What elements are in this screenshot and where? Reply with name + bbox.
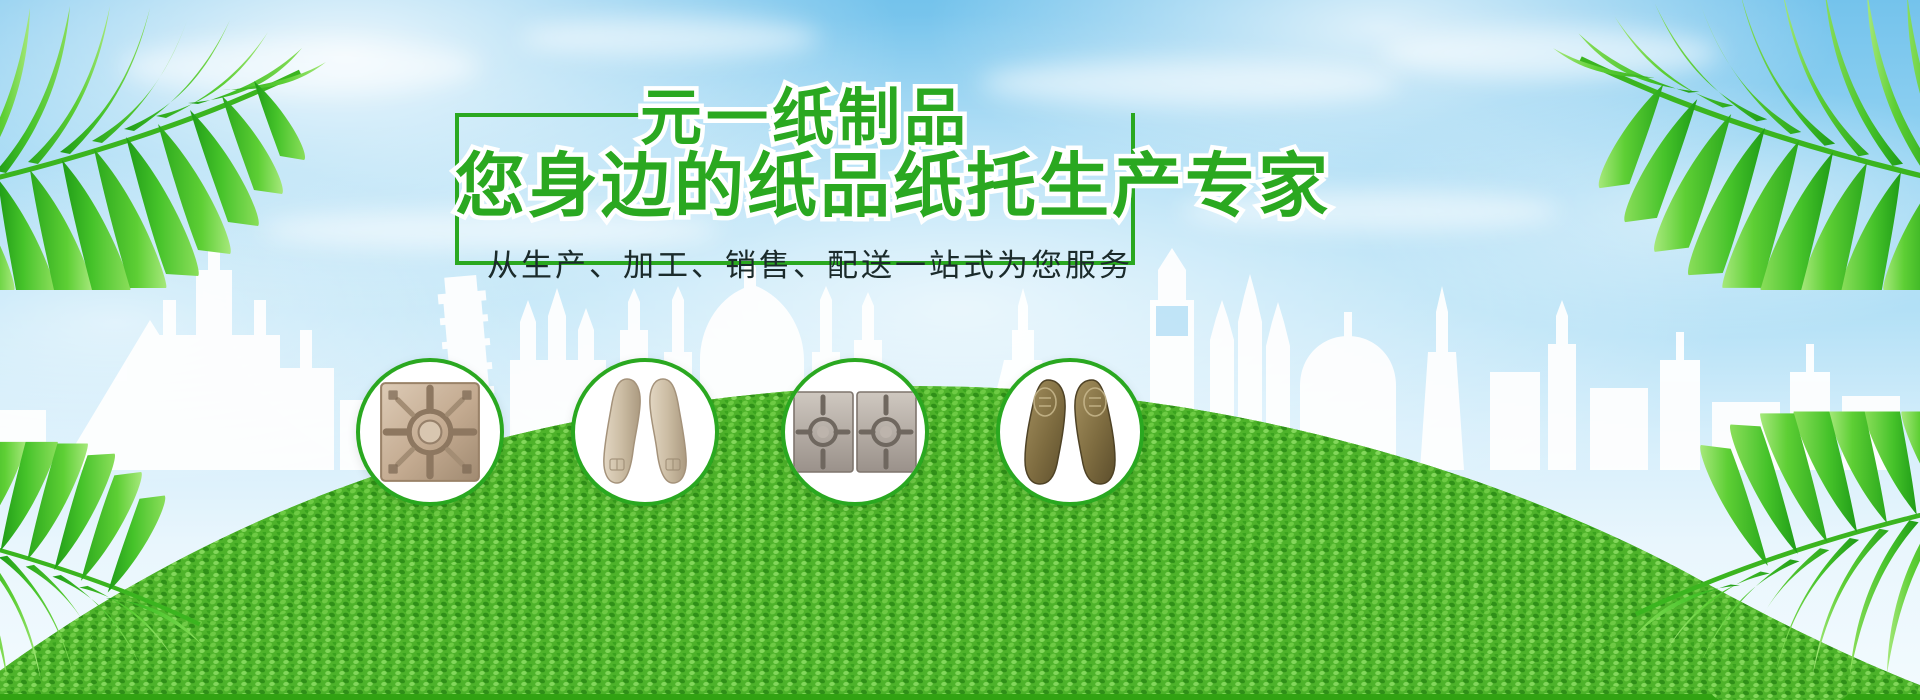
paper-pulp-shoe-form-pair-icon [1020, 376, 1120, 488]
brand-headline: 元一纸制品 [640, 88, 970, 150]
product-circle-3[interactable] [781, 358, 929, 506]
product-circle-4[interactable] [996, 358, 1144, 506]
tagline-headline: 您身边的纸品纸托生产专家 [455, 150, 1331, 224]
palm-frond-icon [1580, 410, 1920, 700]
promotional-banner: 元一纸制品 您身边的纸品纸托生产专家 从生产、加工、销售、配送一站式为您服务 [0, 0, 1920, 700]
paper-pulp-insole-pair-icon [597, 373, 693, 491]
headline-block: 元一纸制品 您身边的纸品纸托生产专家 [455, 88, 1135, 228]
palm-frond-icon [0, 0, 360, 290]
palm-frond-icon [1510, 0, 1920, 290]
paper-pulp-tray-double-icon [793, 391, 917, 473]
product-circle-2[interactable] [571, 358, 719, 506]
product-circle-1[interactable] [356, 358, 504, 506]
banner-subtitle: 从生产、加工、销售、配送一站式为您服务 [487, 240, 1133, 285]
paper-pulp-tray-square-icon [378, 380, 482, 484]
palm-frond-icon [0, 430, 250, 700]
